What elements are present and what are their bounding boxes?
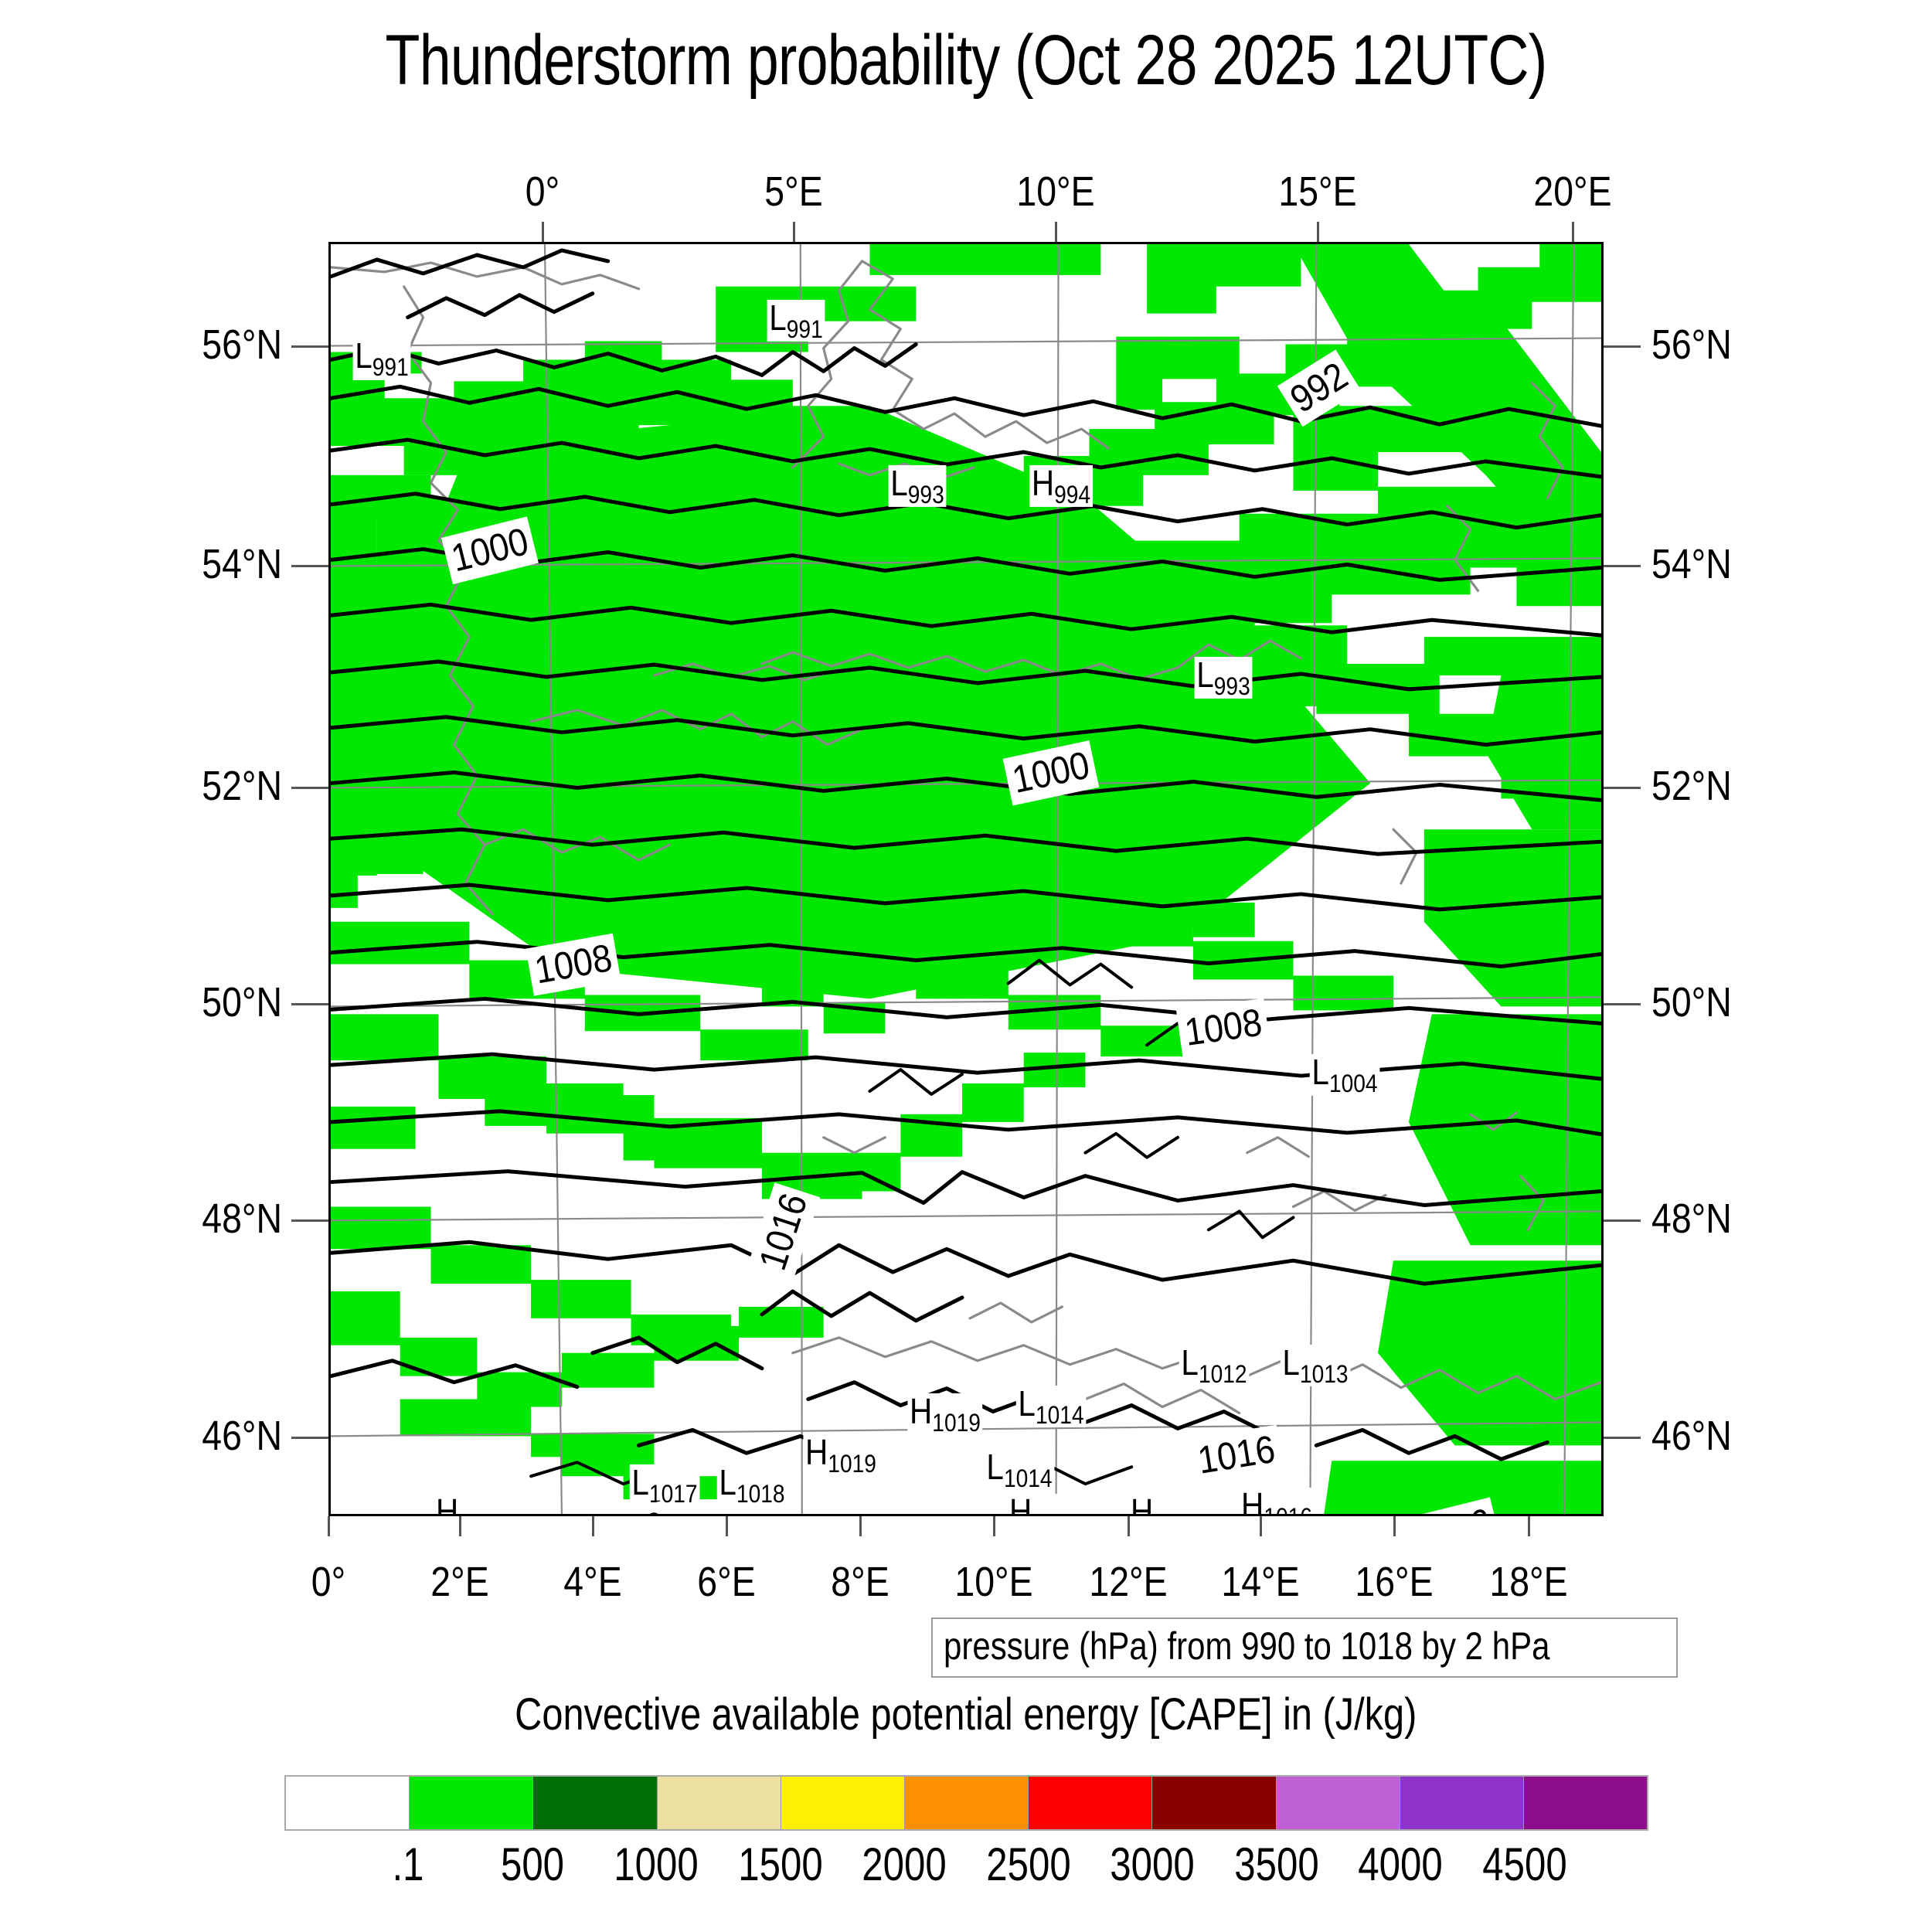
pressure-marker-l-1017: L1017 [630, 1464, 699, 1506]
pressure-marker-h-1019: H1019 [803, 1434, 878, 1475]
axis-tick-bottom [1528, 1516, 1530, 1536]
marker-kind: L [355, 335, 372, 376]
axis-tick-bottom [328, 1516, 330, 1536]
axis-tick-top [1572, 222, 1574, 242]
axis-label-bottom-6: 12°E [1062, 1558, 1195, 1606]
pressure-marker-l-991: L991 [353, 338, 411, 379]
axis-tick-bottom [1260, 1516, 1262, 1536]
pressure-marker-l-993: L993 [889, 465, 947, 507]
colorbar-caption: Convective available potential energy [C… [0, 1689, 1932, 1740]
axis-tick-right [1604, 1437, 1641, 1439]
axis-tick-right [1604, 1219, 1641, 1222]
axis-tick-top [1055, 222, 1057, 242]
axis-tick-right [1604, 787, 1641, 789]
axis-label-bottom-5: 10°E [927, 1558, 1060, 1606]
axis-tick-bottom [592, 1516, 594, 1536]
axis-tick-left [291, 1219, 328, 1222]
marker-value: 994 [1055, 481, 1091, 509]
axis-label-bottom-2: 4°E [526, 1558, 659, 1606]
axis-tick-top [793, 222, 795, 242]
marker-value: 1018 [736, 1480, 784, 1508]
axis-label-left-1: 54°N [123, 540, 282, 588]
pressure-legend-text: pressure (hPa) from 990 to 1018 by 2 hPa [944, 1624, 1549, 1668]
pressure-marker-l-993: L993 [1195, 657, 1253, 699]
axis-label-right-0: 56°N [1651, 321, 1811, 369]
axis-label-bottom-3: 6°E [660, 1558, 793, 1606]
marker-kind: L [1019, 1383, 1036, 1423]
marker-value: 1019 [933, 1409, 981, 1437]
axis-tick-bottom [1128, 1516, 1130, 1536]
marker-kind: H [436, 1492, 458, 1516]
colorbar-tick-1500: 1500 [738, 1838, 822, 1891]
marker-kind: L [769, 298, 787, 338]
axis-tick-bottom [1393, 1516, 1396, 1536]
colorbar-segment-2[interactable] [532, 1777, 656, 1829]
colorbar-segment-5[interactable] [904, 1777, 1028, 1829]
marker-kind: H [910, 1391, 932, 1431]
axis-label-bottom-9: 18°E [1462, 1558, 1595, 1606]
marker-value: 991 [787, 315, 823, 343]
colorbar-segment-4[interactable] [781, 1777, 904, 1829]
axis-label-right-3: 50°N [1651, 978, 1811, 1026]
colorbar-segment-9[interactable] [1400, 1777, 1523, 1829]
marker-value: 1019 [828, 1450, 876, 1478]
colorbar-segment-1[interactable] [409, 1777, 532, 1829]
marker-kind: L [632, 1462, 650, 1502]
colorbar-segment-10[interactable] [1523, 1777, 1647, 1829]
colorbar-tick-1000: 1000 [614, 1838, 699, 1891]
pressure-legend-box: pressure (hPa) from 990 to 1018 by 2 hPa [931, 1617, 1678, 1678]
axis-label-left-0: 56°N [123, 321, 282, 369]
colorbar-tick-.1: .1 [393, 1838, 424, 1891]
axis-tick-left [291, 345, 328, 348]
marker-value: 1012 [1199, 1360, 1247, 1388]
pressure-marker-h-1019: H1019 [908, 1393, 983, 1435]
marker-kind: H [1241, 1485, 1264, 1516]
axis-label-top-3: 15°E [1251, 168, 1384, 216]
axis-label-right-2: 52°N [1651, 762, 1811, 810]
pressure-marker-l-1018: L1018 [716, 1464, 786, 1506]
pressure-marker-l-991: L991 [767, 300, 825, 342]
marker-kind: H [1032, 463, 1054, 503]
axis-tick-left [291, 1003, 328, 1005]
axis-label-top-2: 10°E [989, 168, 1122, 216]
axis-label-bottom-8: 16°E [1328, 1558, 1461, 1606]
marker-kind: L [719, 1462, 736, 1502]
axis-tick-bottom [726, 1516, 728, 1536]
axis-label-top-1: 5°E [727, 168, 860, 216]
pressure-marker-h-994: H994 [1030, 465, 1094, 507]
axis-tick-left [291, 565, 328, 567]
axis-tick-bottom [993, 1516, 995, 1536]
marker-value: 1004 [1329, 1070, 1378, 1097]
marker-value: 991 [372, 354, 409, 382]
colorbar-segment-7[interactable] [1151, 1777, 1275, 1829]
axis-tick-top [1317, 222, 1319, 242]
map-graphic [331, 244, 1601, 1514]
colorbar-segment-8[interactable] [1276, 1777, 1400, 1829]
marker-value: 1018 [458, 1509, 507, 1516]
pressure-marker-l-1012: L1012 [1179, 1345, 1249, 1386]
colorbar-segment-3[interactable] [657, 1777, 781, 1829]
axis-tick-top [542, 222, 544, 242]
colorbar-tick-2500: 2500 [986, 1838, 1070, 1891]
axis-tick-right [1604, 345, 1641, 348]
colorbar[interactable] [284, 1775, 1648, 1831]
axis-tick-bottom [859, 1516, 862, 1536]
pressure-marker-h-1016: H1016 [1240, 1488, 1315, 1516]
axis-tick-right [1604, 1003, 1641, 1005]
marker-value: 1016 [1264, 1503, 1313, 1516]
marker-value: 993 [908, 481, 944, 509]
colorbar-caption-text: Convective available potential energy [C… [515, 1689, 1417, 1740]
colorbar-tick-500: 500 [501, 1838, 564, 1891]
marker-value: 1014 [1004, 1464, 1053, 1492]
pressure-marker-l-1013: L1013 [1281, 1345, 1350, 1386]
axis-tick-left [291, 1437, 328, 1439]
axis-label-bottom-7: 14°E [1194, 1558, 1327, 1606]
axis-label-right-5: 46°N [1651, 1412, 1811, 1460]
axis-tick-bottom [459, 1516, 461, 1536]
axis-label-bottom-0: 0° [262, 1558, 395, 1606]
marker-kind: H [1131, 1492, 1153, 1516]
axis-label-top-4: 20°E [1506, 168, 1639, 216]
marker-value: 1016 [1153, 1509, 1202, 1516]
marker-kind: L [1196, 655, 1214, 695]
colorbar-tick-labels: .150010001500200025003000350040004500 [284, 1838, 1648, 1907]
marker-value: 1013 [1300, 1360, 1349, 1388]
axis-label-left-3: 50°N [123, 978, 282, 1026]
colorbar-tick-4000: 4000 [1358, 1838, 1442, 1891]
marker-kind: L [1182, 1342, 1199, 1383]
colorbar-tick-3000: 3000 [1111, 1838, 1195, 1891]
pressure-marker-h-1016: H1016 [1128, 1494, 1203, 1516]
pressure-marker-h-1018: H1018 [434, 1494, 509, 1516]
marker-value: 993 [1214, 672, 1250, 700]
marker-kind: L [986, 1447, 1004, 1487]
axis-label-left-2: 52°N [123, 762, 282, 810]
pressure-marker-h-1016: H1016 [1007, 1494, 1082, 1516]
marker-kind: L [1282, 1342, 1300, 1383]
pressure-marker-l-1014: L1014 [985, 1449, 1054, 1491]
axis-label-bottom-1: 2°E [393, 1558, 526, 1606]
chart-canvas: Thunderstorm probability (Oct 28 2025 12… [0, 0, 1932, 1932]
map-panel: L991L991L993H994L993L1004L1012L1013L1014… [328, 242, 1604, 1516]
axis-tick-left [291, 787, 328, 789]
axis-label-left-4: 48°N [123, 1195, 282, 1243]
marker-kind: L [890, 463, 908, 503]
marker-kind: H [1009, 1492, 1032, 1516]
page-title: Thunderstorm probability (Oct 28 2025 12… [193, 23, 1739, 98]
marker-kind: L [1311, 1052, 1329, 1092]
marker-kind: H [805, 1431, 828, 1471]
pressure-marker-l-1004: L1004 [1310, 1054, 1379, 1096]
axis-tick-right [1604, 565, 1641, 567]
colorbar-tick-2000: 2000 [862, 1838, 946, 1891]
axis-label-left-5: 46°N [123, 1412, 282, 1460]
marker-value: 1016 [1032, 1509, 1080, 1516]
cape-shading [331, 244, 1601, 1514]
axis-label-bottom-4: 8°E [794, 1558, 927, 1606]
colorbar-segment-0[interactable] [286, 1777, 409, 1829]
axis-label-right-4: 48°N [1651, 1195, 1811, 1243]
axis-label-top-0: 0° [476, 168, 609, 216]
pressure-marker-l-1014: L1014 [1016, 1386, 1086, 1427]
marker-value: 1014 [1036, 1401, 1084, 1429]
axis-label-right-1: 54°N [1651, 540, 1811, 588]
colorbar-segment-6[interactable] [1028, 1777, 1151, 1829]
colorbar-tick-4500: 4500 [1482, 1838, 1566, 1891]
colorbar-tick-3500: 3500 [1234, 1838, 1318, 1891]
